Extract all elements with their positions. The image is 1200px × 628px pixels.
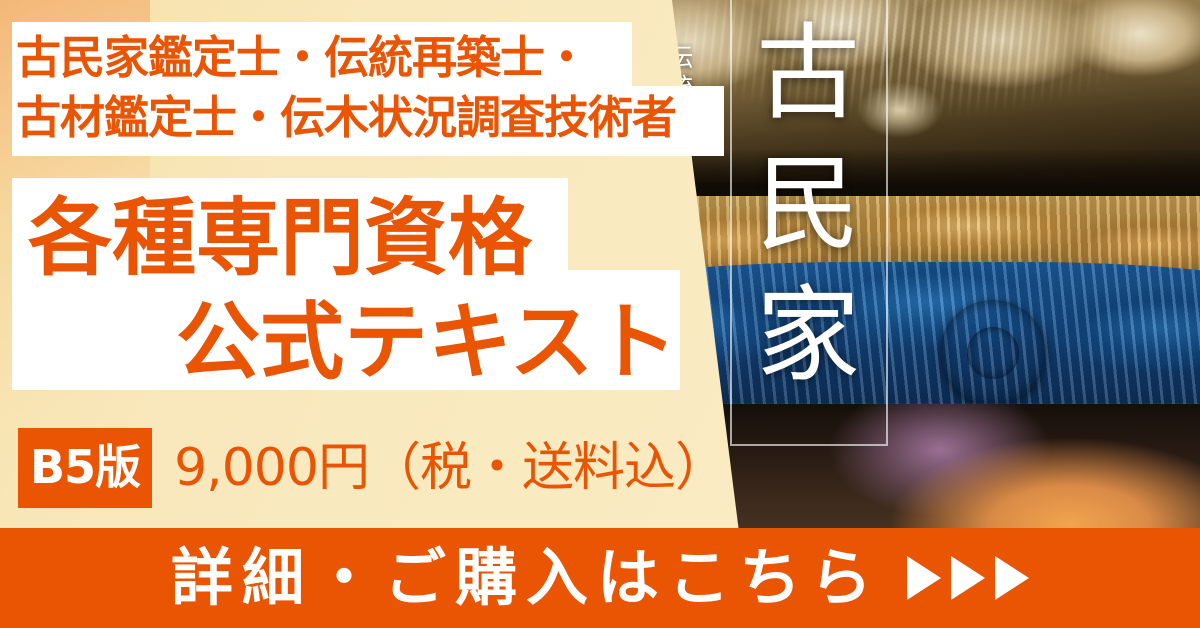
- qualification-heading-line1: 古民家鑑定士・伝統再築士・: [16, 28, 726, 88]
- promo-banner: 古 民 家 伝統構法、古民家活用のための調査と再生の 古民家鑑定士・伝統再築士・…: [0, 0, 1200, 628]
- photo-crest-medallion: [940, 300, 1046, 406]
- main-heading-line2: 公式テキスト: [16, 290, 696, 394]
- price-text: 9,000円（税・送料込）: [174, 442, 726, 494]
- cover-title-char-2: 民: [732, 139, 886, 270]
- cover-title-char-3: 家: [732, 270, 886, 401]
- main-heading: 各種専門資格 公式テキスト: [16, 186, 696, 394]
- cta-bar[interactable]: 詳細・ご購入はこちら: [0, 528, 1200, 628]
- cta-arrow-group: [907, 556, 1029, 600]
- triangle-right-icon: [951, 556, 985, 600]
- cover-title: 古 民 家: [732, 8, 886, 401]
- main-heading-line1: 各種専門資格: [16, 186, 696, 290]
- triangle-right-icon: [907, 556, 941, 600]
- qualification-heading: 古民家鑑定士・伝統再築士・ 古材鑑定士・伝木状況調査技術者: [16, 28, 726, 148]
- price-row: B5版 9,000円（税・送料込）: [18, 428, 726, 508]
- cta-label: 詳細・ご購入はこちら: [171, 547, 881, 609]
- triangle-right-icon: [995, 556, 1029, 600]
- qualification-heading-line2: 古材鑑定士・伝木状況調査技術者: [16, 88, 726, 148]
- format-badge: B5版: [18, 428, 152, 508]
- cover-title-char-1: 古: [732, 8, 886, 139]
